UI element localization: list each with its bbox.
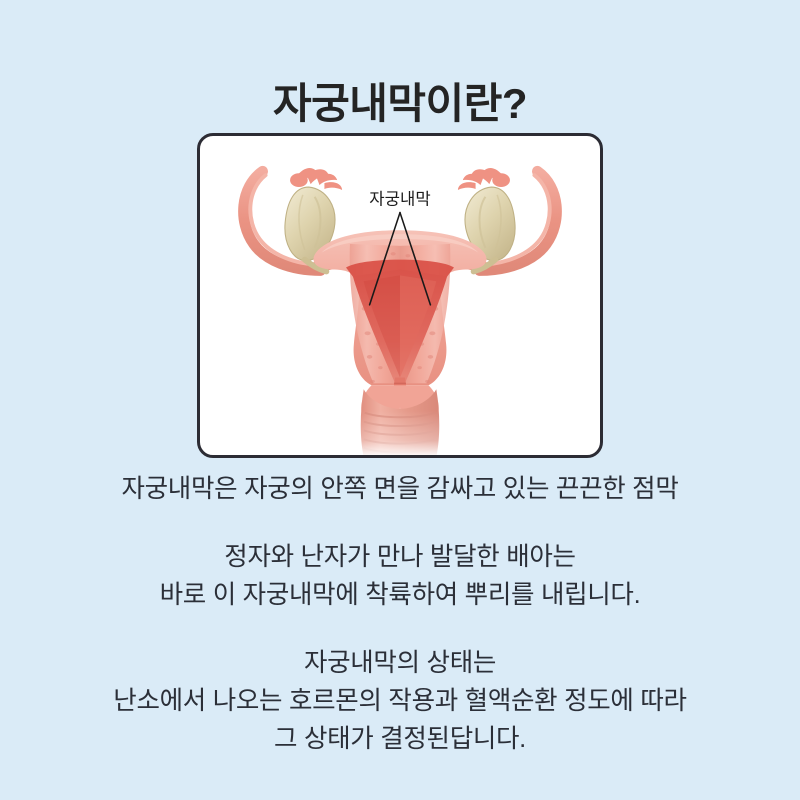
paragraph-line: 자궁내막은 자궁의 안쪽 면을 감싸고 있는 끈끈한 점막 [0, 470, 800, 508]
paragraph-definition: 자궁내막은 자궁의 안쪽 면을 감싸고 있는 끈끈한 점막 [0, 470, 800, 508]
left-fimbriae [290, 168, 342, 190]
page-title: 자궁내막이란? [0, 80, 800, 128]
infographic-page: 자궁내막이란? [0, 0, 800, 800]
paragraph-line: 바로 이 자궁내막에 착륙하여 뿌리를 내립니다. [0, 576, 800, 614]
body-copy: 자궁내막은 자궁의 안쪽 면을 감싸고 있는 끈끈한 점막 정자와 난자가 만나… [0, 470, 800, 758]
anatomy-figure-panel: 자궁내막 [197, 133, 603, 458]
paragraph-line: 그 상태가 결정된답니다. [0, 720, 800, 758]
paragraph-line: 자궁내막의 상태는 [0, 644, 800, 682]
right-fimbriae [458, 168, 510, 190]
paragraph-line: 정자와 난자가 만나 발달한 배아는 [0, 538, 800, 576]
paragraph-line: 난소에서 나오는 호르몬의 작용과 혈액순환 정도에 따라 [0, 682, 800, 720]
paragraph-implantation: 정자와 난자가 만나 발달한 배아는 바로 이 자궁내막에 착륙하여 뿌리를 내… [0, 538, 800, 614]
endometrium-figure-label: 자궁내막 [369, 190, 430, 209]
paragraph-condition: 자궁내막의 상태는 난소에서 나오는 호르몬의 작용과 혈액순환 정도에 따라 … [0, 644, 800, 758]
uterus-anatomy-illustration: 자궁내막 [200, 136, 600, 455]
